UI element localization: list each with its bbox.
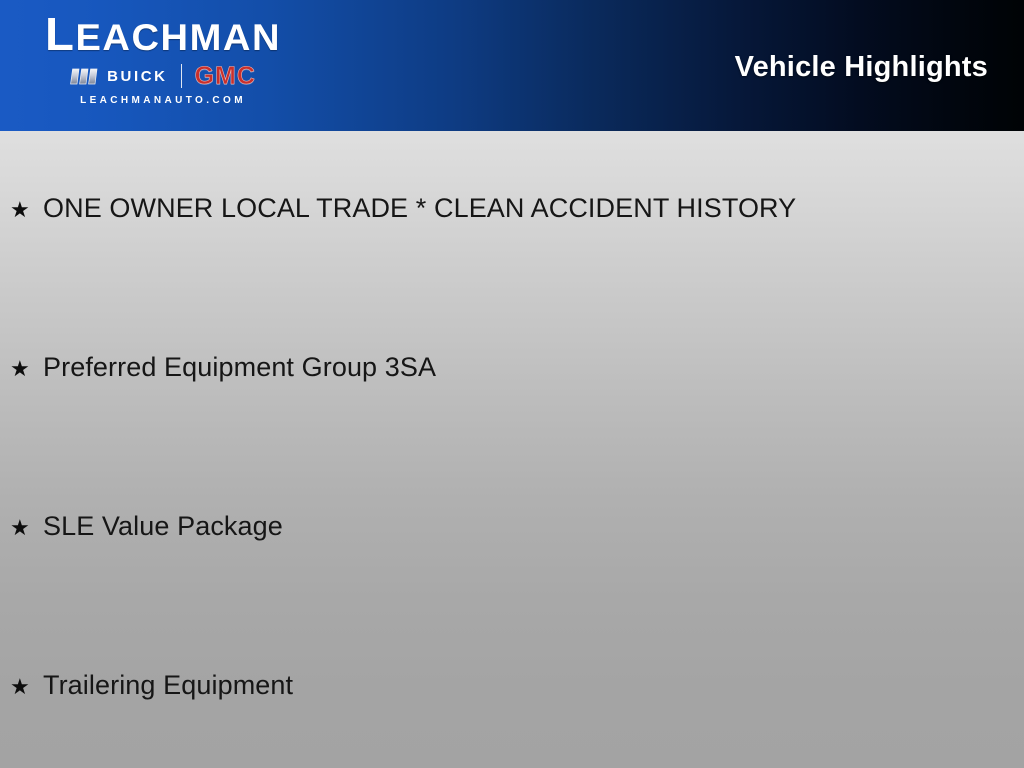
dealer-wordmark-initial: L <box>45 8 75 60</box>
star-bullet-icon: ★ <box>10 673 43 703</box>
vehicle-highlights-list: ★ ONE OWNER LOCAL TRADE * CLEAN ACCIDENT… <box>0 131 1024 768</box>
dealer-logo[interactable]: LEACHMAN <box>18 12 308 120</box>
buick-label: BUICK <box>107 68 168 85</box>
dealer-website-url[interactable]: LEACHMANAUTO.COM <box>18 94 308 108</box>
list-item: ★ ONE OWNER LOCAL TRADE * CLEAN ACCIDENT… <box>10 193 796 226</box>
vehicle-highlights-page: LEACHMAN <box>0 0 1024 768</box>
star-bullet-icon: ★ <box>10 355 43 385</box>
dealer-wordmark: LEACHMAN <box>14 12 313 60</box>
buick-tri-shield-icon <box>70 68 100 85</box>
highlight-label: ONE OWNER LOCAL TRADE * CLEAN ACCIDENT H… <box>43 193 796 223</box>
page-header: LEACHMAN <box>0 0 1024 131</box>
highlight-label: Trailering Equipment <box>43 670 293 700</box>
highlight-label: Preferred Equipment Group 3SA <box>43 352 436 382</box>
highlight-label: SLE Value Package <box>43 511 283 541</box>
brand-row: BUICK GMC <box>18 62 308 90</box>
list-item: ★ Preferred Equipment Group 3SA <box>10 352 436 385</box>
star-bullet-icon: ★ <box>10 514 43 544</box>
star-bullet-icon: ★ <box>10 196 43 226</box>
brand-divider <box>181 64 182 88</box>
dealer-wordmark-rest: EACHMAN <box>75 17 281 58</box>
page-title: Vehicle Highlights <box>735 50 988 84</box>
list-item: ★ Trailering Equipment <box>10 670 293 703</box>
list-item: ★ SLE Value Package <box>10 511 283 544</box>
gmc-label: GMC <box>195 63 256 89</box>
